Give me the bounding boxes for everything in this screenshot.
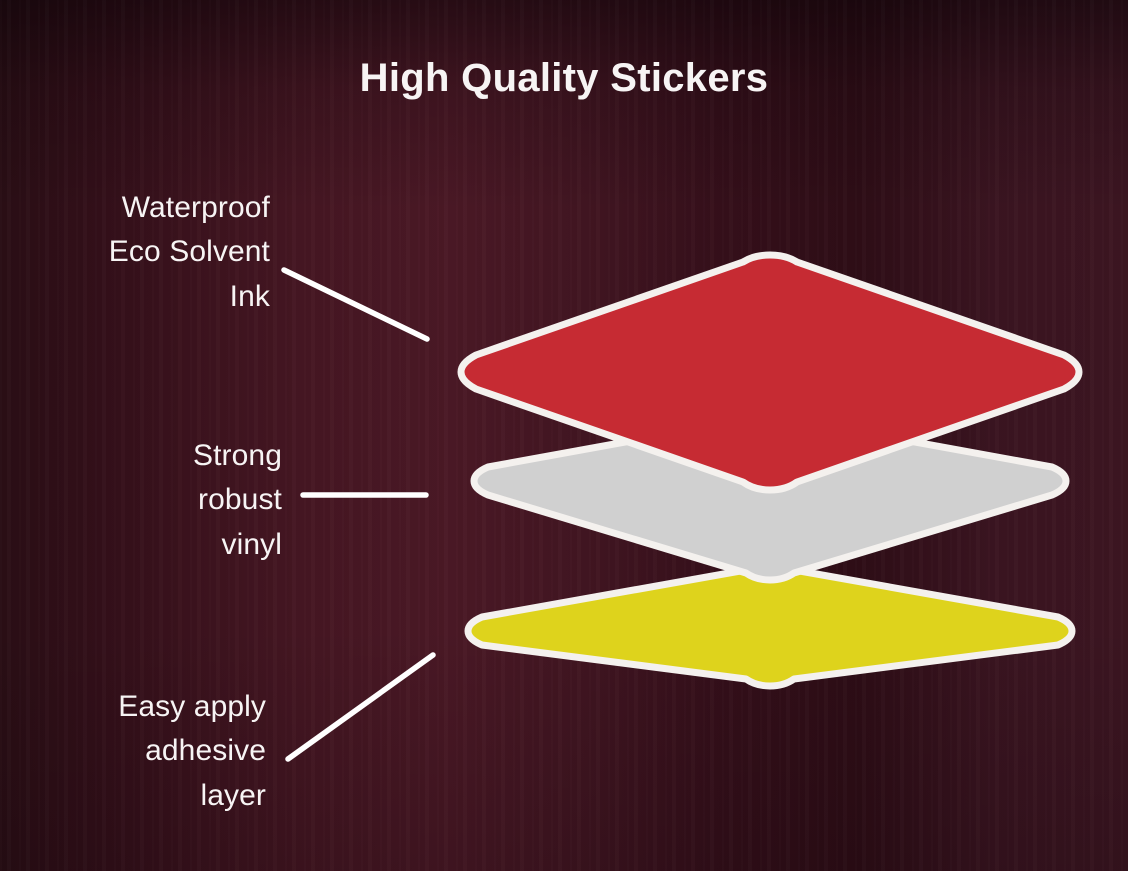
leader-line-ink bbox=[284, 270, 427, 339]
leader-line-adhesive bbox=[288, 655, 433, 759]
infographic-canvas: High Quality Stickers Waterproof Eco Sol… bbox=[0, 0, 1128, 871]
sticker-layer-diagram bbox=[0, 0, 1128, 871]
